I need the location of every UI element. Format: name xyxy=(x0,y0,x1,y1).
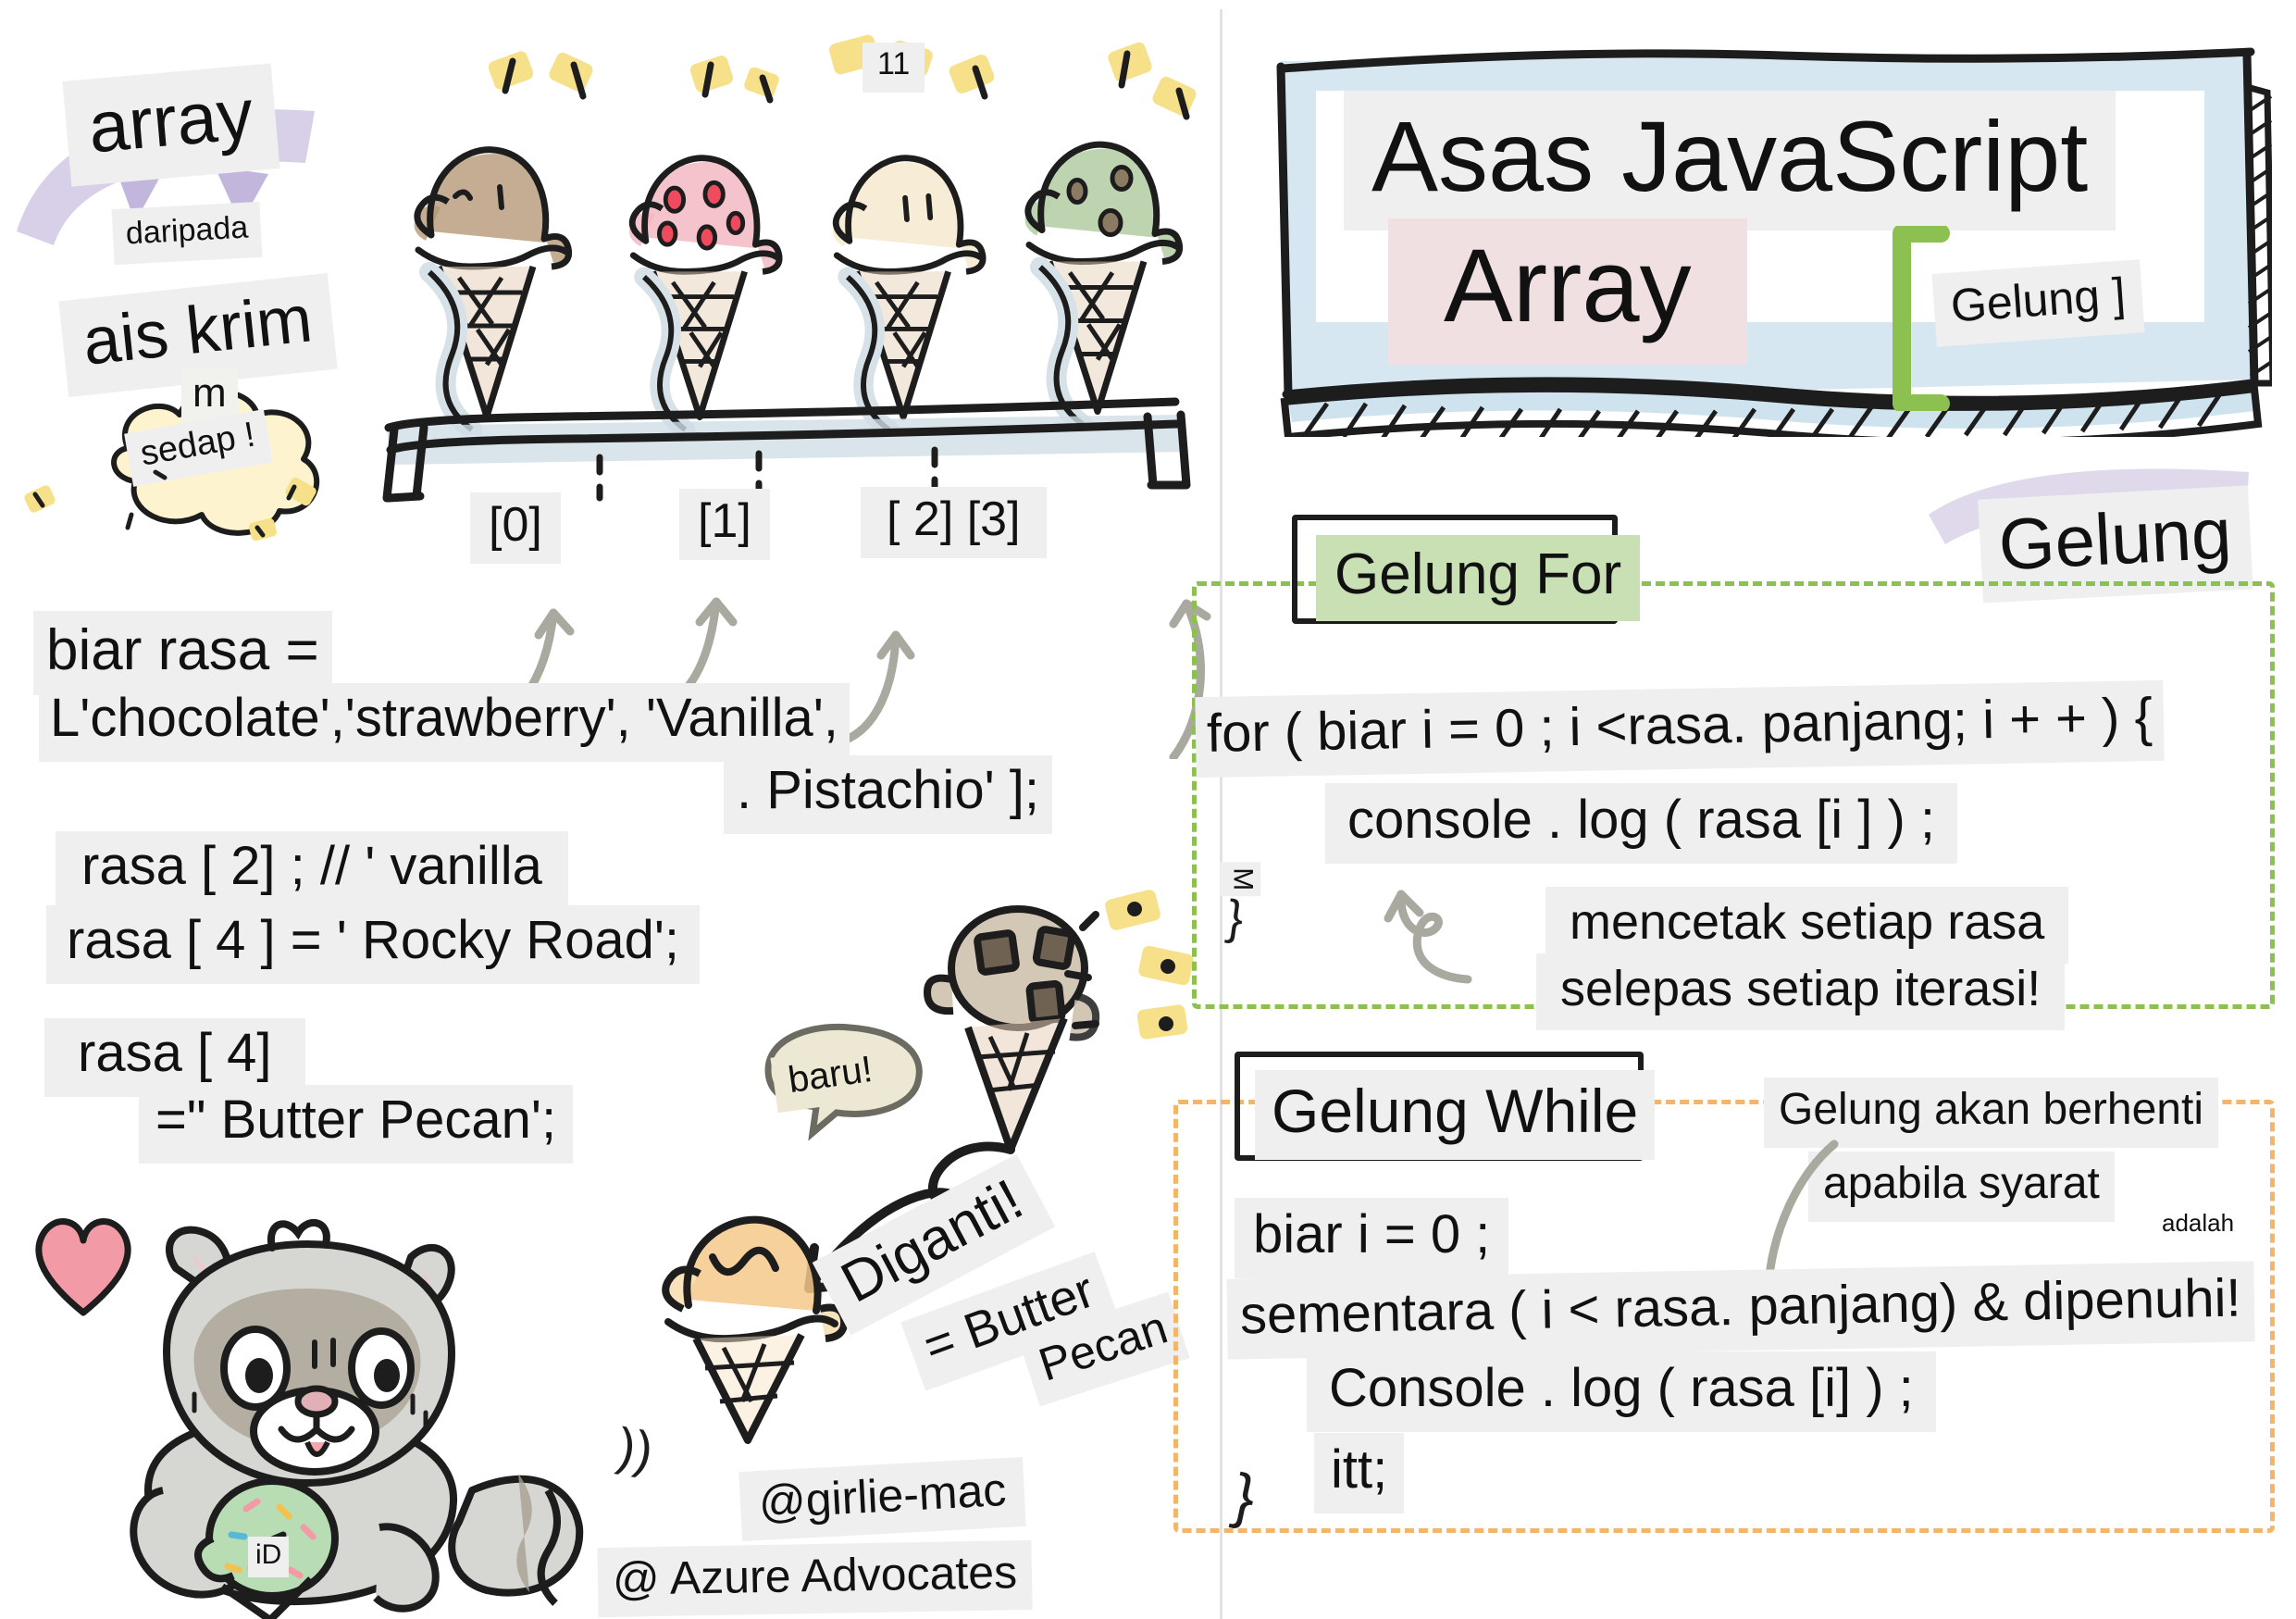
for-loop-note-arrow xyxy=(1379,874,1508,994)
ice-cream-cone-0 xyxy=(398,120,583,435)
code-line-butter-pecan: =" Butter Pecan'; xyxy=(139,1085,573,1164)
raccoon-illustration xyxy=(37,1213,592,1619)
credit-org: @ Azure Advocates xyxy=(597,1540,1032,1617)
code-line-access-index2: rasa [ 2] ; // ' vanilla xyxy=(56,831,568,910)
confetti-sprinkles-top xyxy=(463,20,1222,122)
label-daripada: daripada xyxy=(112,202,263,265)
board-title-line2: Array xyxy=(1388,218,1747,365)
while-loop-code-line4: itt; xyxy=(1314,1433,1404,1513)
paren-scribble: )) xyxy=(614,1415,658,1480)
raccoon-signature: iD xyxy=(248,1537,289,1577)
sketchnote-canvas: array daripada ais krim m sedap ! xyxy=(0,0,2296,1619)
sprinkles-decoration xyxy=(19,454,370,555)
for-loop-note-line2: selepas setiap iterasi! xyxy=(1536,953,2065,1030)
while-loop-note-line3: adalah xyxy=(2158,1209,2238,1241)
code-line-array-items: L'chocolate','strawberry', 'Vanilla', xyxy=(39,683,850,762)
credit-handle: @girlie-mac xyxy=(738,1457,1026,1540)
while-loop-code-line3: Console . log ( rasa [i] ) ; xyxy=(1307,1351,1936,1432)
label-array: array xyxy=(62,63,279,186)
while-loop-title: Gelung While xyxy=(1255,1070,1655,1160)
while-loop-code-line1: biar i = 0 ; xyxy=(1235,1198,1508,1278)
for-loop-title: Gelung For xyxy=(1316,535,1640,621)
butter-pecan-cone-illustration xyxy=(648,1196,861,1455)
label-sprinkle-count: 11 xyxy=(863,43,925,93)
for-loop-note-line1: mencetak setiap rasa xyxy=(1545,887,2068,964)
code-line-assign-rocky-road: rasa [ 4 ] = ' Rocky Road'; xyxy=(46,905,700,984)
code-line-pistachio: . Pistachio' ]; xyxy=(724,755,1052,834)
array-shelf-illustration xyxy=(370,389,1203,509)
ice-cream-cone-3 xyxy=(1009,113,1194,432)
board-title-line1: Asas JavaScript xyxy=(1344,91,2116,230)
for-loop-code-line2: console . log ( rasa [i ] ) ; xyxy=(1325,783,1957,864)
board-bracket-tag: Gelung ] xyxy=(1932,259,2145,346)
for-loop-code-line1: for ( biar i = 0 ; i <rasa. panjang; i +… xyxy=(1195,680,2164,778)
